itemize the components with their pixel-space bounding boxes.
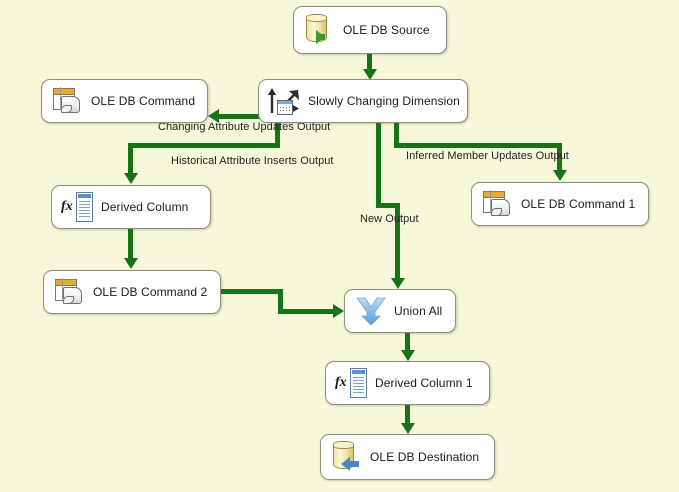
node-label-ole-db-command-1: OLE DB Command 1 [521,197,635,211]
arrowhead-derived-1-to-destination [401,423,415,434]
edge-label-historical-attribute-inserts-output: Historical Attribute Inserts Output [171,155,334,167]
union-y-arrow-icon [356,296,386,326]
database-export-icon [303,13,337,47]
node-label-derived-column: Derived Column [101,200,188,214]
fx-sheet-icon: fx [335,366,369,400]
node-derived-column-1[interactable]: fx Derived Column 1 [325,361,490,405]
scd-icon [268,84,302,118]
connector-scd-hist-across[interactable] [128,143,280,148]
node-union-all[interactable]: Union All [344,289,456,333]
node-label-derived-column-1: Derived Column 1 [375,376,473,390]
connector-command-2-out[interactable] [221,289,283,294]
connector-scd-inferred-drop[interactable] [394,123,399,145]
data-flow-canvas[interactable]: Changing Attribute Updates Output Histor… [0,0,679,492]
node-ole-db-command-1[interactable]: OLE DB Command 1 [471,182,649,226]
connector-scd-new-drop[interactable] [376,123,381,205]
edge-label-new-output: New Output [360,213,419,225]
database-import-icon [330,440,364,474]
connector-scd-hist-down[interactable] [128,143,133,176]
arrowhead-new-output-to-union-all [391,278,405,289]
arrowhead-derived-to-command-2 [124,258,138,269]
node-label-ole-db-destination: OLE DB Destination [370,450,479,464]
node-label-union-all: Union All [394,304,442,318]
arrowhead-command-2-to-union-all [333,304,344,318]
table-script-icon [481,187,515,221]
node-derived-column[interactable]: fx Derived Column [51,185,211,229]
fx-sheet-icon: fx [61,190,95,224]
node-slowly-changing-dimension[interactable]: Slowly Changing Dimension [258,79,468,123]
node-ole-db-source[interactable]: OLE DB Source [293,6,447,54]
union-merge-icon [354,294,388,328]
table-script-icon [53,275,87,309]
node-ole-db-command[interactable]: OLE DB Command [41,79,208,123]
connector-derived-to-command-2[interactable] [128,229,133,261]
node-label-ole-db-command-2: OLE DB Command 2 [93,285,207,299]
connector-command-2-into-union[interactable] [278,309,336,314]
arrowhead-hist-to-derived-column [124,173,138,184]
edge-label-inferred-member-updates-output: Inferred Member Updates Output [406,150,569,162]
connector-scd-inferred-across[interactable] [394,143,562,148]
arrowhead-union-to-derived-1 [401,350,415,361]
node-label-ole-db-source: OLE DB Source [343,23,430,37]
node-ole-db-destination[interactable]: OLE DB Destination [320,434,495,480]
node-label-slowly-changing-dimension: Slowly Changing Dimension [308,94,460,108]
table-script-icon [51,84,85,118]
node-ole-db-command-2[interactable]: OLE DB Command 2 [43,270,221,314]
arrowhead-inferred-to-command-1 [553,170,567,181]
node-label-ole-db-command: OLE DB Command [91,94,195,108]
